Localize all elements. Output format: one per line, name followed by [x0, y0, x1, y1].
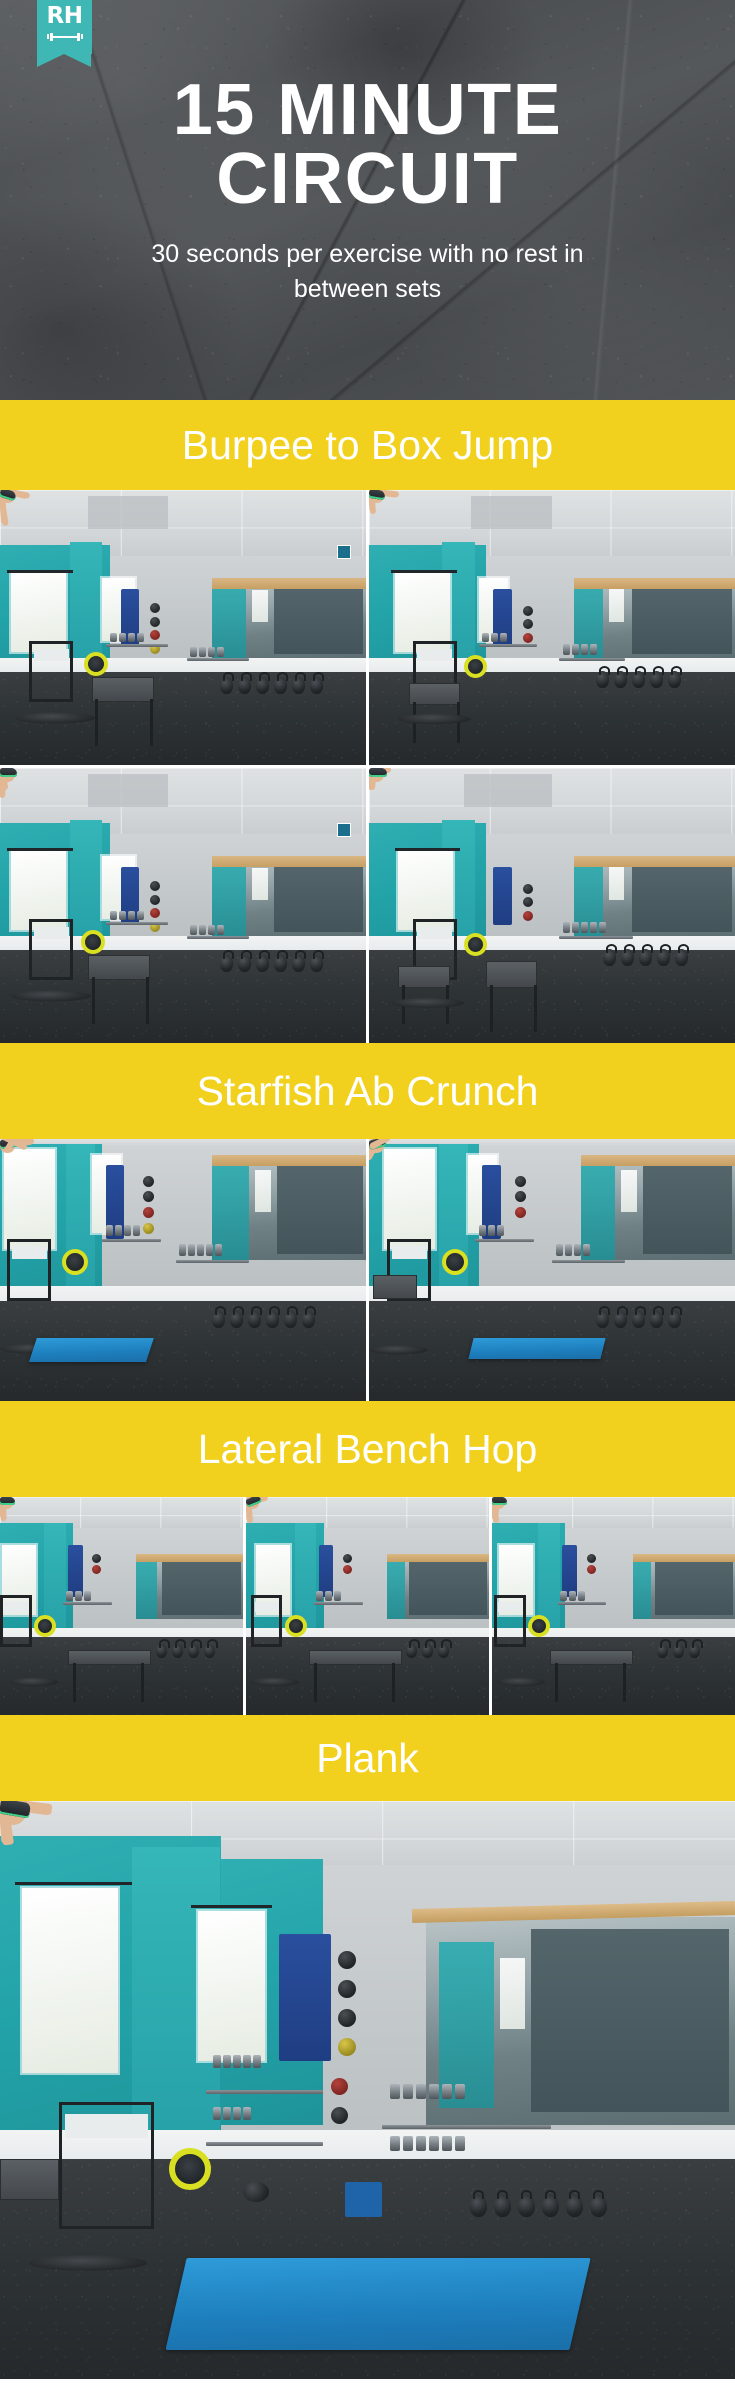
exercise-banner-burpee-to-box-jump: Burpee to Box Jump: [0, 400, 735, 490]
exercise-photo: [0, 1497, 243, 1715]
exercise-banner-starfish-ab-crunch: Starfish Ab Crunch: [0, 1043, 735, 1139]
header-banner: RH 15 MINUTE CIRCUIT 30 seconds per exer…: [0, 0, 735, 400]
exercise-title: Plank: [316, 1738, 419, 1779]
exercise-photo: [246, 1497, 489, 1715]
page-title-line1: 15 MINUTE: [20, 74, 715, 147]
exercise-photo: [492, 1497, 735, 1715]
exercise-photo: [0, 768, 366, 1043]
exercise-title: Starfish Ab Crunch: [197, 1071, 539, 1112]
exercise-photo: [369, 490, 735, 765]
exercise-photo: [369, 1139, 735, 1401]
exercise-banner-plank: Plank: [0, 1715, 735, 1801]
photo-grid-plank: [0, 1801, 735, 2379]
exercise-banner-lateral-bench-hop: Lateral Bench Hop: [0, 1401, 735, 1497]
photo-grid-burpee-to-box-jump: [0, 490, 735, 1043]
brand-logo[interactable]: RH: [37, 0, 92, 67]
exercise-photo: [0, 490, 366, 765]
page-subtitle: 30 seconds per exercise with no rest in …: [108, 237, 628, 308]
exercise-title: Lateral Bench Hop: [198, 1429, 538, 1470]
logo-badge-point: [37, 54, 91, 67]
exercise-photo: [369, 768, 735, 1043]
photo-grid-lateral-bench-hop: [0, 1497, 735, 1715]
logo-text: RH: [47, 5, 83, 28]
page-title-line2: CIRCUIT: [20, 143, 715, 216]
exercise-title: Burpee to Box Jump: [182, 425, 553, 466]
barbell-icon: [47, 32, 83, 41]
workout-infographic: RH 15 MINUTE CIRCUIT 30 seconds per exer…: [0, 0, 735, 2379]
photo-grid-starfish-ab-crunch: [0, 1139, 735, 1401]
exercise-photo: [0, 1801, 735, 2379]
exercise-photo: [0, 1139, 366, 1401]
logo-badge-body: RH: [37, 0, 92, 54]
header-text-block: 15 MINUTE CIRCUIT 30 seconds per exercis…: [0, 74, 735, 308]
